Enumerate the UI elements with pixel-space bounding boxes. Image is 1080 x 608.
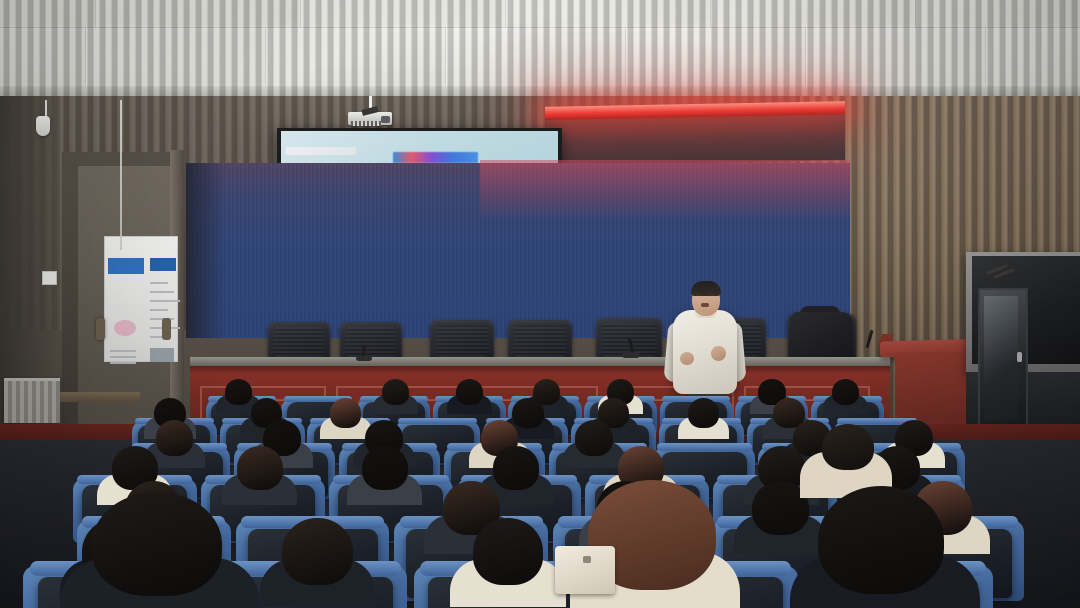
- audience-notable-left-head: [92, 492, 222, 596]
- audience-person-head: [282, 518, 352, 585]
- audience-person-head: [832, 379, 859, 405]
- audience-seat-top-rail: [398, 418, 477, 424]
- audience-person-head: [575, 420, 613, 456]
- audience-notable-right-head: [818, 486, 944, 594]
- audience-person-head: [382, 379, 409, 405]
- audience: [0, 0, 1080, 608]
- audience-held-book: [555, 546, 615, 594]
- audience-person-head: [225, 379, 252, 405]
- audience-cream-jacket-head: [822, 424, 874, 470]
- lecture-hall-scene: Lecture hall presentation 大数据的三大特征 Cream…: [0, 0, 1080, 608]
- audience-person-head: [156, 420, 194, 456]
- audience-person-head: [456, 379, 483, 405]
- audience-person-head: [512, 398, 544, 428]
- audience-person-head: [362, 446, 408, 490]
- audience-person-head: [237, 446, 283, 490]
- audience-person-head: [688, 398, 720, 428]
- audience-person-head: [493, 446, 539, 490]
- audience-person-head: [473, 518, 543, 585]
- audience-seat-top-rail: [657, 443, 752, 451]
- audience-person-head: [330, 398, 362, 428]
- audience-held-book-spine: [583, 556, 591, 563]
